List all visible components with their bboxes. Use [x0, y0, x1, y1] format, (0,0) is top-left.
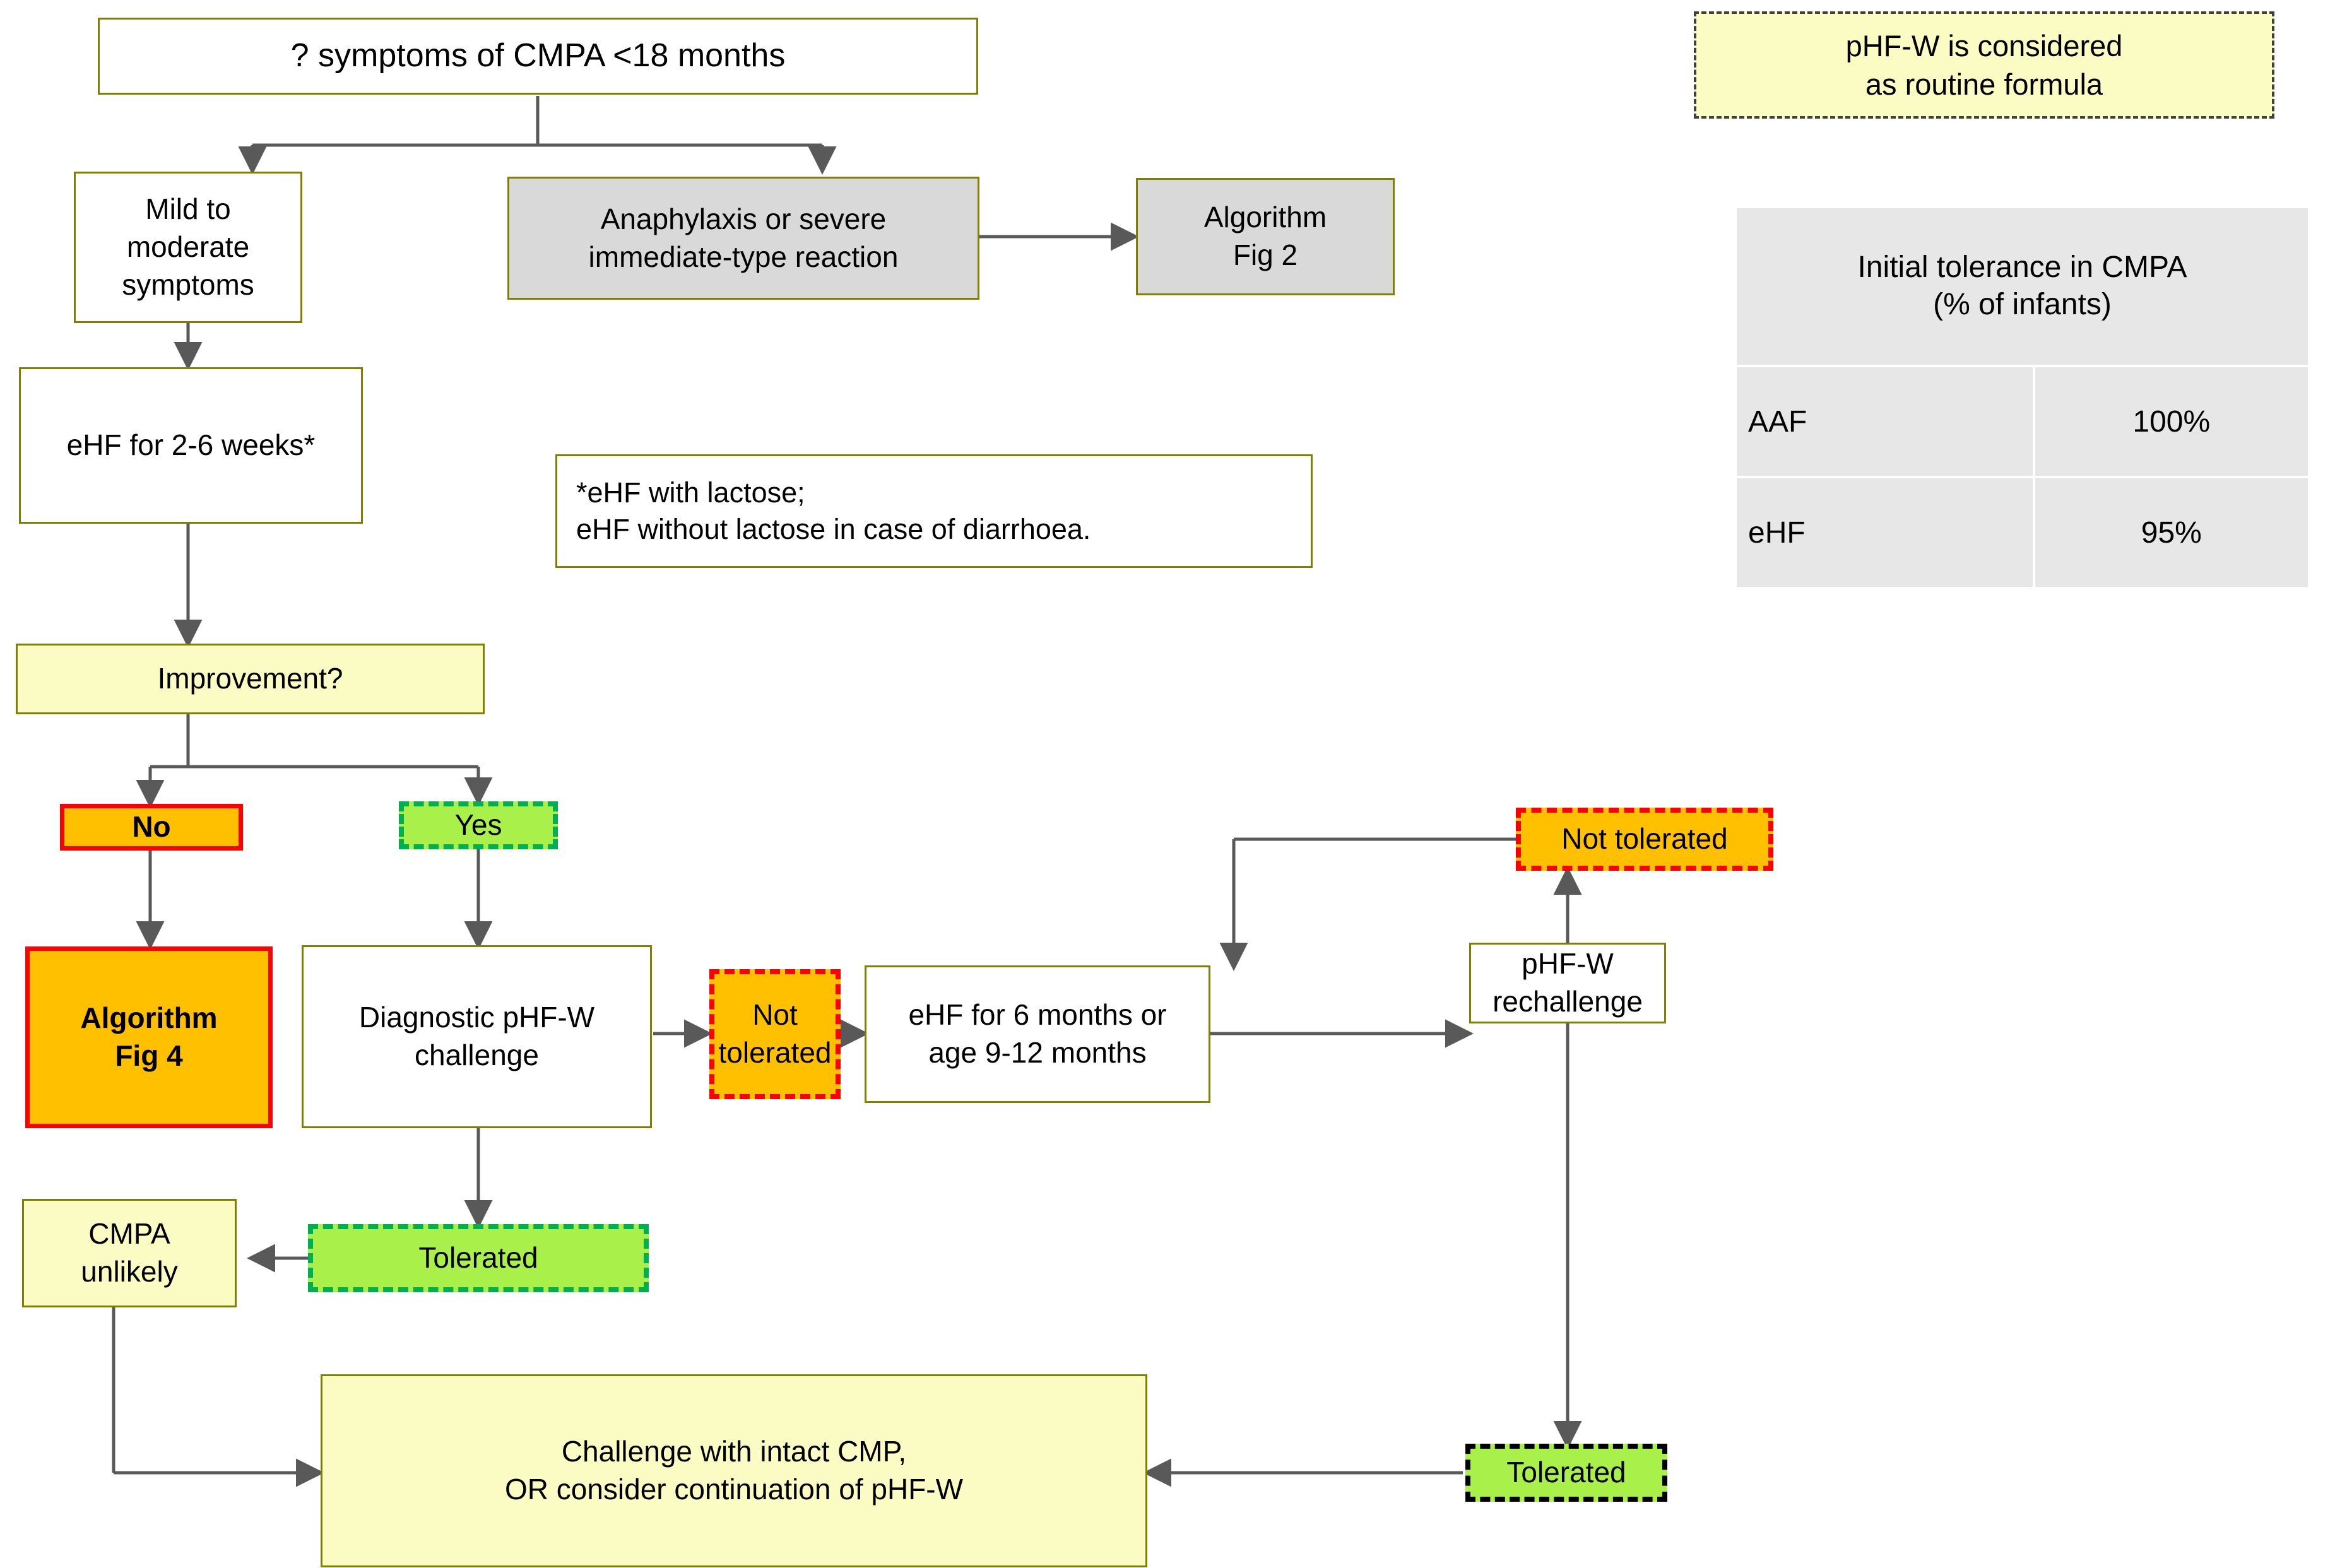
node-anaphylaxis[interactable]: Anaphylaxis or severe immediate-type rea… [507, 177, 979, 300]
node-not-tolerated-1[interactable]: Not tolerated [709, 969, 841, 1099]
node-cmpa-unlikely[interactable]: CMPA unlikely [22, 1199, 237, 1307]
note-lactose-footnote: *eHF with lactose; eHF without lactose i… [555, 454, 1313, 568]
node-challenge-cmp[interactable]: Challenge with intact CMP, OR consider c… [321, 1374, 1147, 1567]
node-not-tolerated-2[interactable]: Not tolerated [1516, 808, 1773, 871]
note-routine-formula: pHF-W is considered as routine formula [1694, 11, 2274, 119]
table-cell-label: AAF [1737, 366, 2034, 477]
node-algorithm-fig4[interactable]: Algorithm Fig 4 [25, 946, 273, 1128]
node-improvement[interactable]: Improvement? [16, 644, 485, 714]
node-algorithm-fig2[interactable]: Algorithm Fig 2 [1136, 178, 1395, 295]
node-tolerated-2[interactable]: Tolerated [1465, 1444, 1667, 1502]
node-symptoms-query[interactable]: ? symptoms of CMPA <18 months [98, 18, 978, 95]
table-cell-value: 95% [2034, 477, 2308, 588]
table-header-cell: Initial tolerance in CMPA (% of infants) [1737, 208, 2308, 366]
table-header-row: Initial tolerance in CMPA (% of infants) [1737, 208, 2308, 366]
table-row: AAF 100% [1737, 366, 2308, 477]
node-tolerated-1[interactable]: Tolerated [308, 1224, 649, 1292]
initial-tolerance-table: Initial tolerance in CMPA (% of infants)… [1737, 208, 2308, 589]
table-cell-label: eHF [1737, 477, 2034, 588]
node-ehf-6-months[interactable]: eHF for 6 months or age 9-12 months [865, 965, 1210, 1103]
table-cell-value: 100% [2034, 366, 2308, 477]
node-ehf-2-6-weeks[interactable]: eHF for 2-6 weeks* [19, 367, 363, 524]
node-diagnostic-challenge[interactable]: Diagnostic pHF-W challenge [302, 945, 652, 1128]
flowchart-canvas: ? symptoms of CMPA <18 months Mild to mo… [0, 0, 2335, 1568]
node-no[interactable]: No [60, 804, 243, 851]
node-yes[interactable]: Yes [399, 801, 558, 849]
node-phfw-rechallenge[interactable]: pHF-W rechallenge [1469, 943, 1666, 1023]
node-mild-moderate-symptoms[interactable]: Mild to moderate symptoms [74, 172, 302, 323]
table-row: eHF 95% [1737, 477, 2308, 588]
